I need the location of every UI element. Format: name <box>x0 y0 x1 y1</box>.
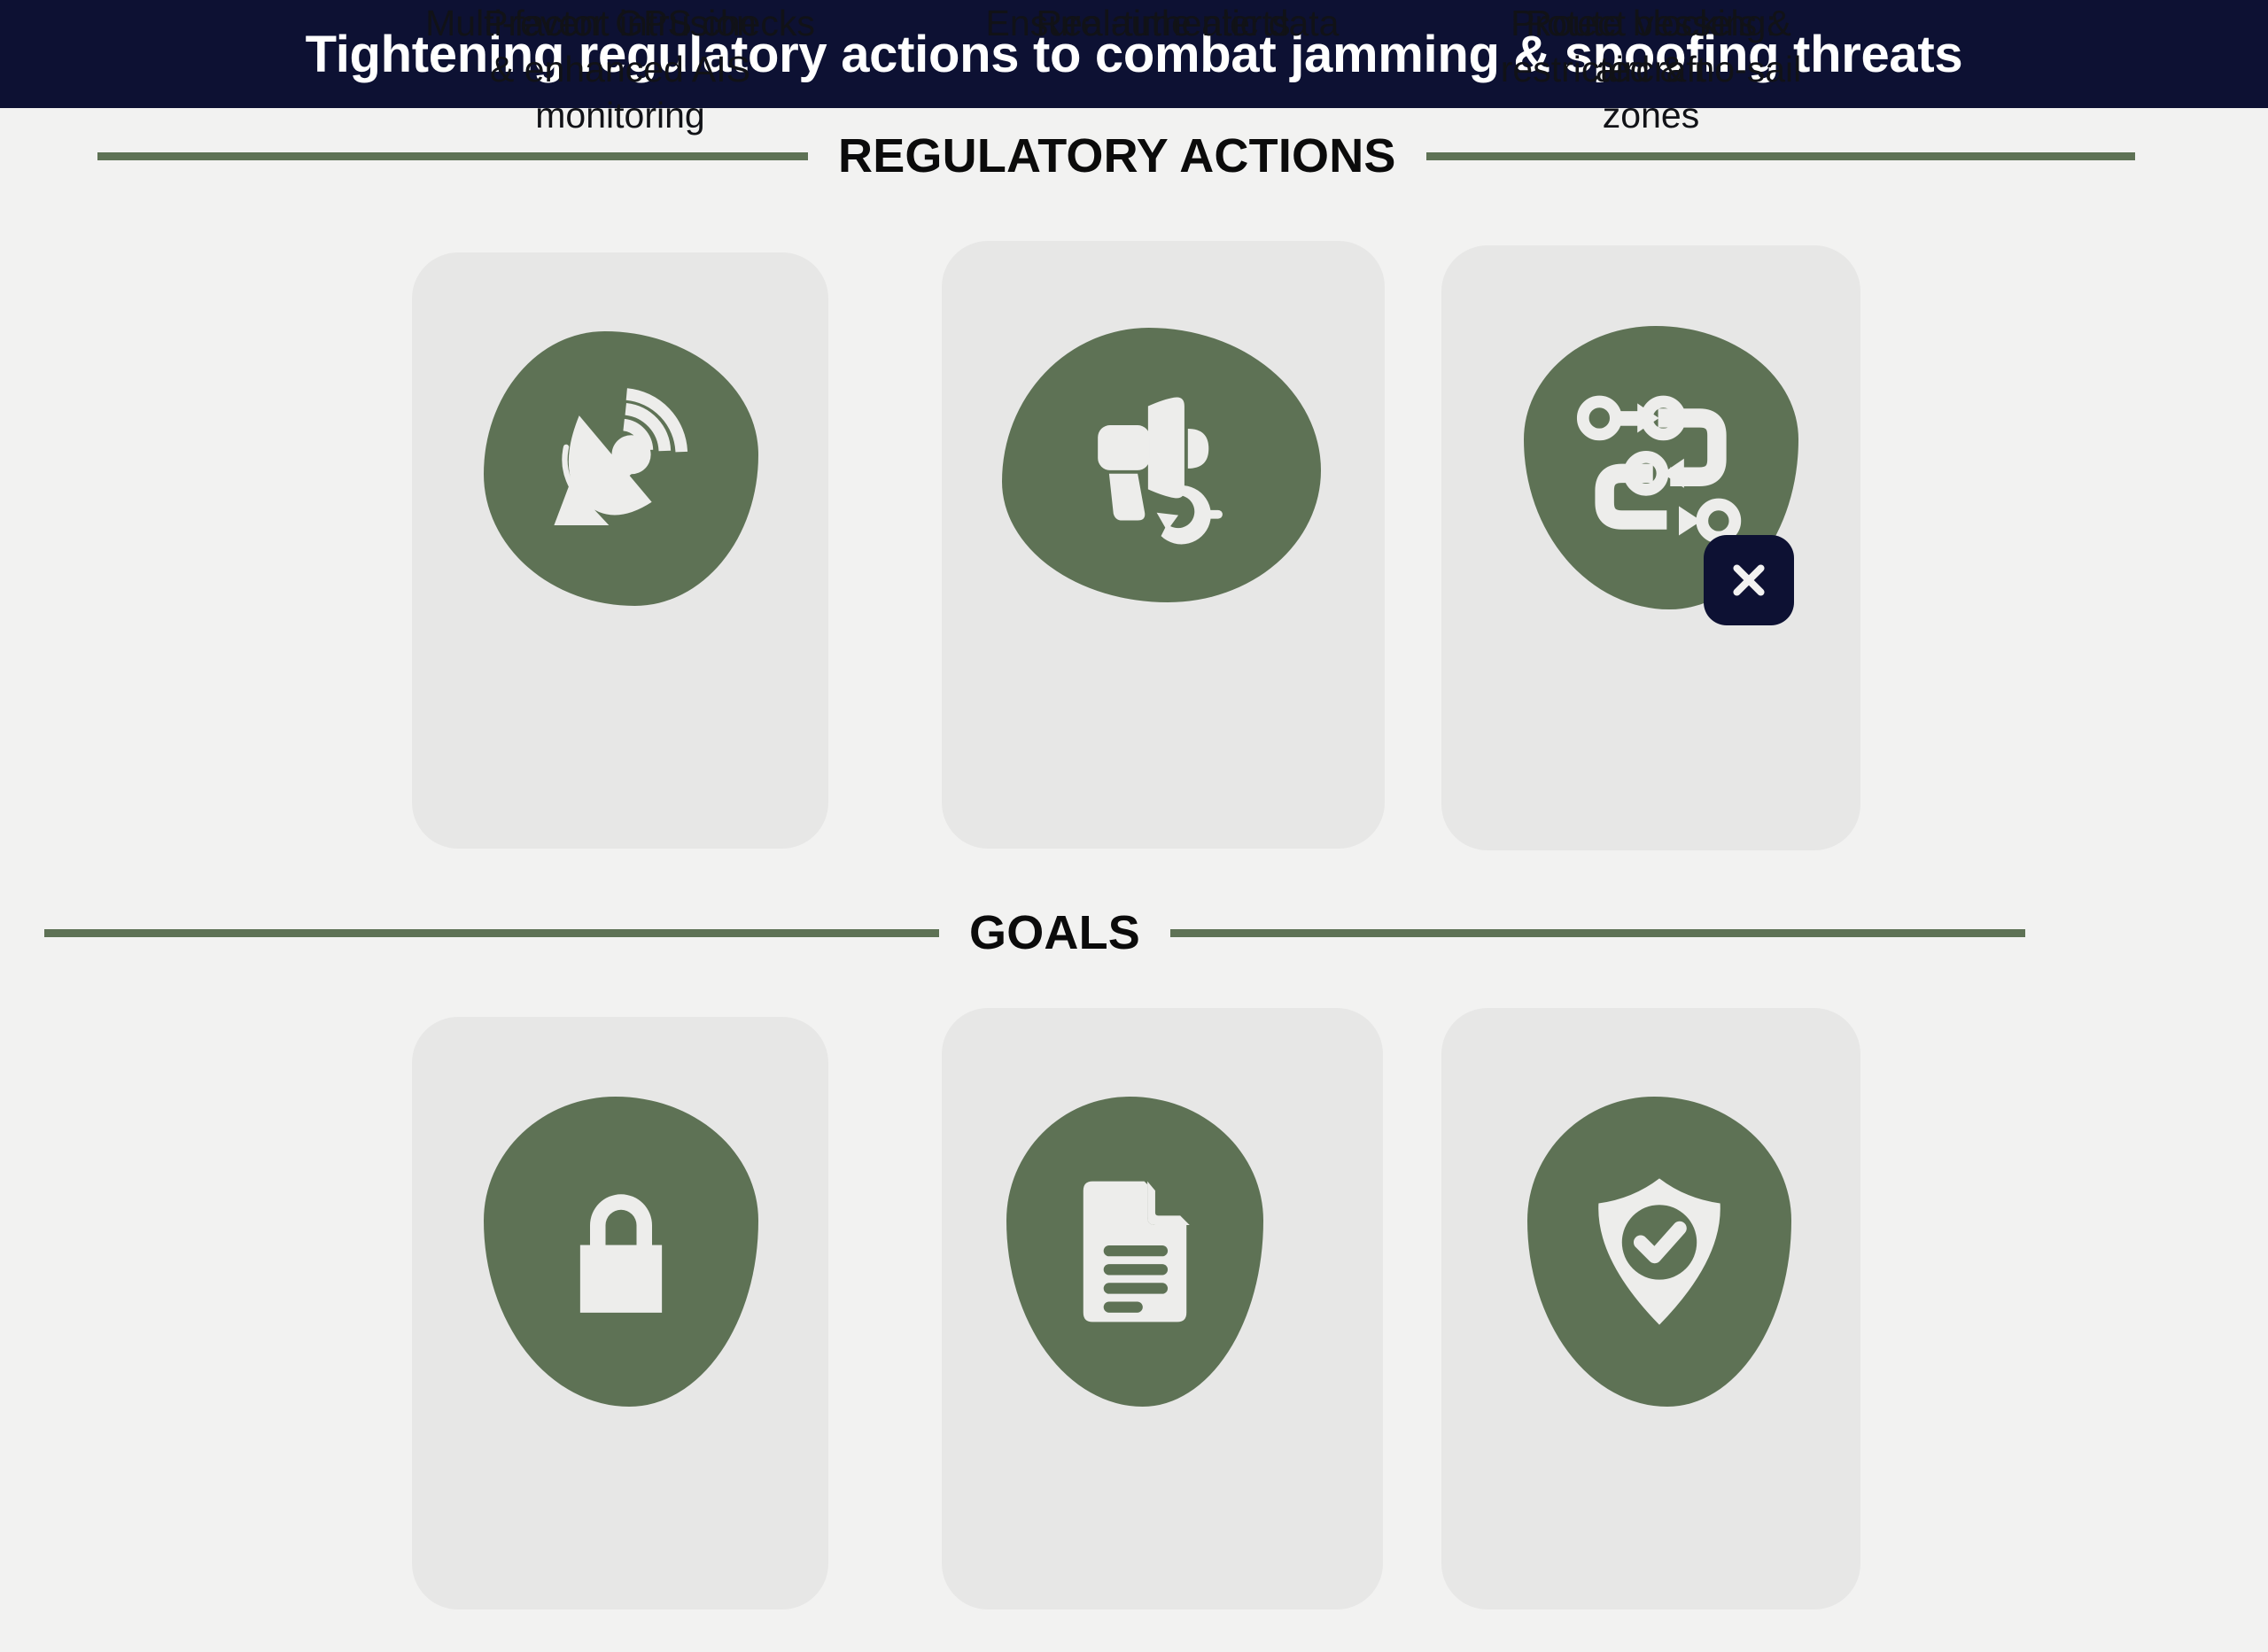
section-header-regulatory-actions: REGULATORY ACTIONS <box>0 128 2268 183</box>
section-header-goals: GOALS <box>0 905 2268 960</box>
section-rule-left <box>44 929 939 937</box>
card-label-ensure-authentic-data: Ensure authentic data <box>942 0 1383 46</box>
section-rule-left <box>97 152 808 160</box>
section-rule-right <box>1170 929 2025 937</box>
card-label-prevent-intrusion: Prevent intrusion <box>412 0 828 46</box>
satellite-dish-icon <box>484 331 758 606</box>
section-title-regulatory-actions: REGULATORY ACTIONS <box>808 128 1426 183</box>
card-label-protect-vessels-aircraft: Protect vessels & aircraft <box>1441 0 1860 92</box>
close-x-badge-icon <box>1704 535 1794 625</box>
section-title-goals: GOALS <box>939 905 1170 960</box>
section-rule-right <box>1426 152 2135 160</box>
